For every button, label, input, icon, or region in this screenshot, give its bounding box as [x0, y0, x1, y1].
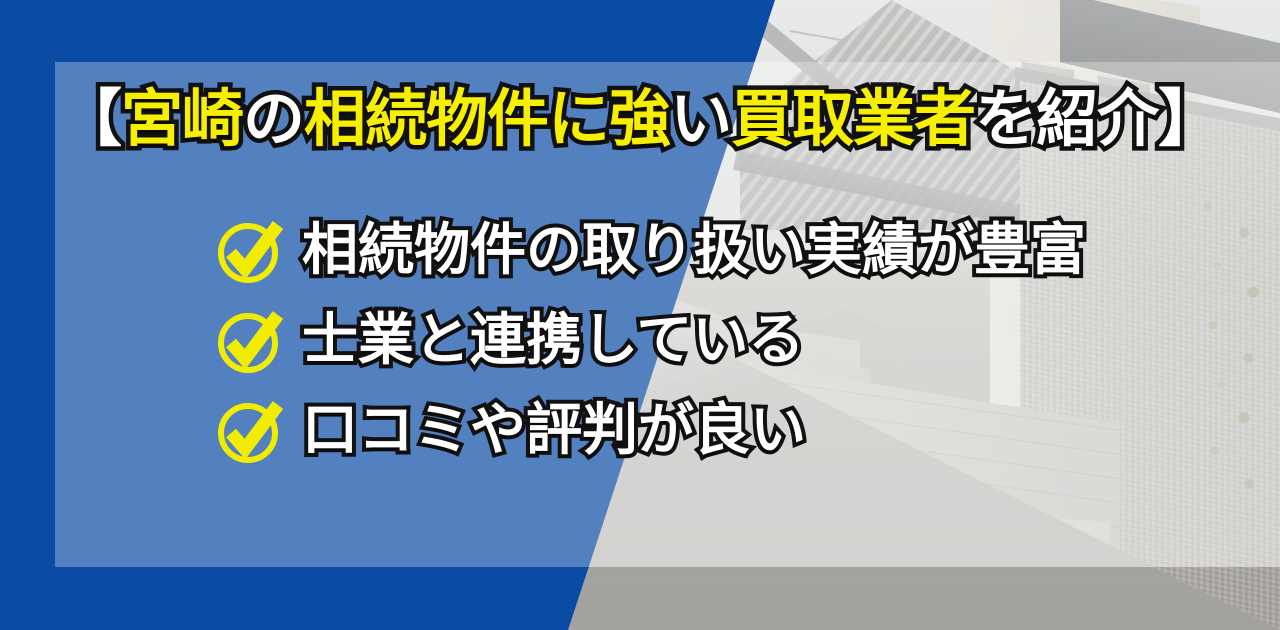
title-segment-miyazaki: 宮崎	[121, 82, 243, 155]
banner-canvas: 【宮崎の相続物件に強い買取業者を紹介】 相続物件の取り扱い実績が豊富	[0, 0, 1280, 630]
check-circle-icon	[214, 215, 286, 287]
title-segment-i: い	[670, 82, 731, 155]
bullet-item: 口コミや評判が良い	[214, 386, 1086, 476]
bullet-list: 相続物件の取り扱い実績が豊富 士業と連携している	[214, 206, 1086, 476]
title-segment-inheritance-property-strong: 相続物件に強	[304, 82, 670, 155]
check-circle-icon	[214, 395, 286, 467]
bullet-item: 相続物件の取り扱い実績が豊富	[214, 206, 1086, 296]
banner-title: 【宮崎の相続物件に強い買取業者を紹介】	[60, 88, 1230, 150]
bullet-item: 士業と連携している	[214, 296, 1086, 386]
title-segment-buyer-company: 買取業者	[731, 82, 975, 155]
bullet-label: 相続物件の取り扱い実績が豊富	[302, 223, 1086, 279]
banner-content: 【宮崎の相続物件に強い買取業者を紹介】 相続物件の取り扱い実績が豊富	[0, 0, 1280, 630]
bullet-label: 口コミや評判が良い	[302, 403, 806, 459]
bullet-label: 士業と連携している	[302, 313, 804, 369]
check-circle-icon	[214, 305, 286, 377]
title-segment-open-bracket: 【	[60, 82, 121, 155]
title-segment-introduce-close: を紹介】	[975, 82, 1219, 155]
title-segment-no: の	[243, 82, 304, 155]
